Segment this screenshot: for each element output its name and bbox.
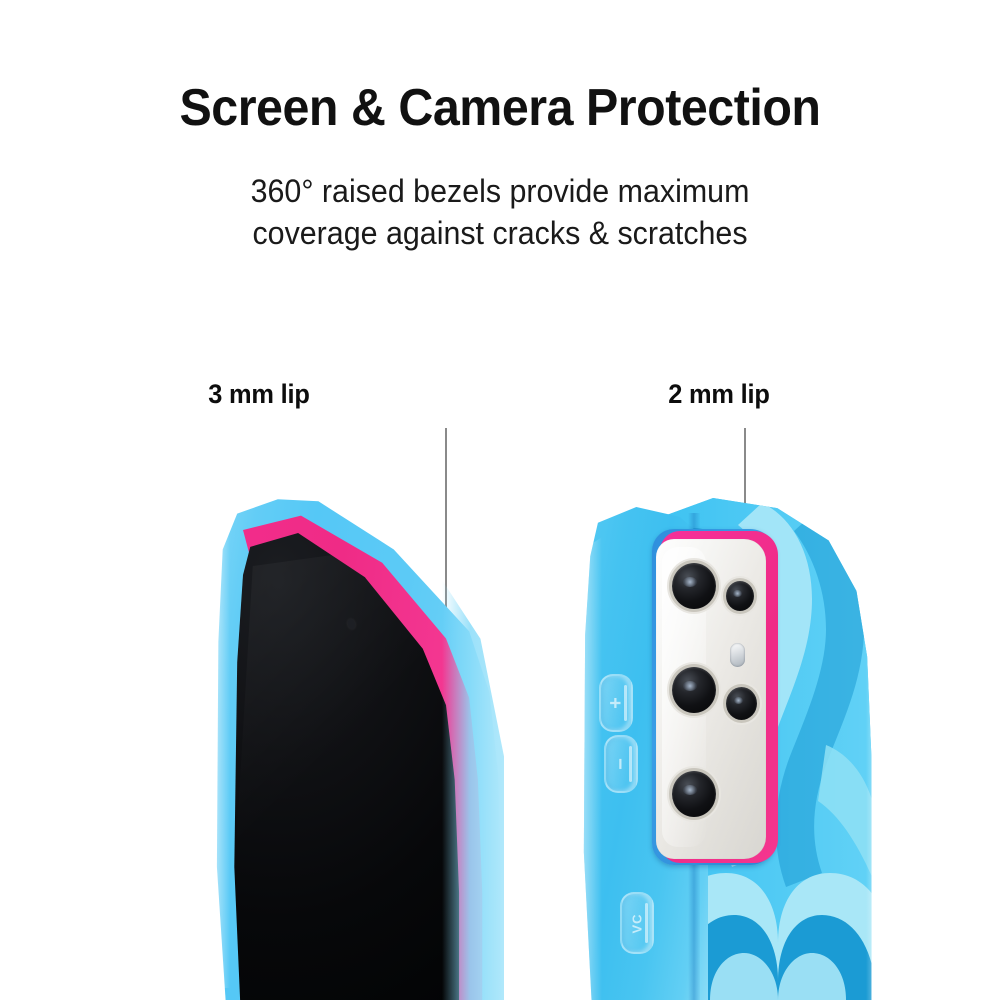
side-wall-highlight xyxy=(582,537,602,1007)
page-subtitle-line-1: 360° raised bezels provide maximum xyxy=(25,170,975,212)
volume-up-button-glyph: + xyxy=(606,697,626,709)
camera-lens-2 xyxy=(726,581,754,611)
brand-button[interactable]: VC xyxy=(620,892,654,954)
camera-lens-5 xyxy=(672,771,716,817)
callout-label-right: 2 mm lip xyxy=(668,379,769,410)
camera-lens-1 xyxy=(672,563,716,609)
callout-label-left: 3 mm lip xyxy=(208,379,309,410)
button-notch xyxy=(624,685,627,722)
phone-back-view: + − VC xyxy=(580,487,880,1000)
button-notch xyxy=(645,903,648,942)
camera-lens-4 xyxy=(726,687,757,720)
camera-lens-3 xyxy=(672,667,716,713)
page-subtitle-line-2: coverage against cracks & scratches xyxy=(25,212,975,254)
button-notch xyxy=(629,746,632,783)
camera-flash-icon xyxy=(730,643,745,667)
case-rim-right xyxy=(442,580,504,1000)
phone-front-view xyxy=(214,488,504,1000)
product-feature-graphic: Screen & Camera Protection 360° raised b… xyxy=(0,0,1000,1000)
volume-down-button[interactable]: − xyxy=(604,735,638,793)
page-title: Screen & Camera Protection xyxy=(35,78,965,138)
case-edge-highlight-left xyxy=(214,502,230,988)
case-back-edge-highlight xyxy=(866,495,880,1000)
volume-down-button-glyph: − xyxy=(611,758,631,770)
camera-module xyxy=(656,539,766,859)
volume-up-button[interactable]: + xyxy=(599,674,633,732)
page-subtitle: 360° raised bezels provide maximum cover… xyxy=(25,170,975,254)
brand-button-glyph: VC xyxy=(631,913,644,933)
